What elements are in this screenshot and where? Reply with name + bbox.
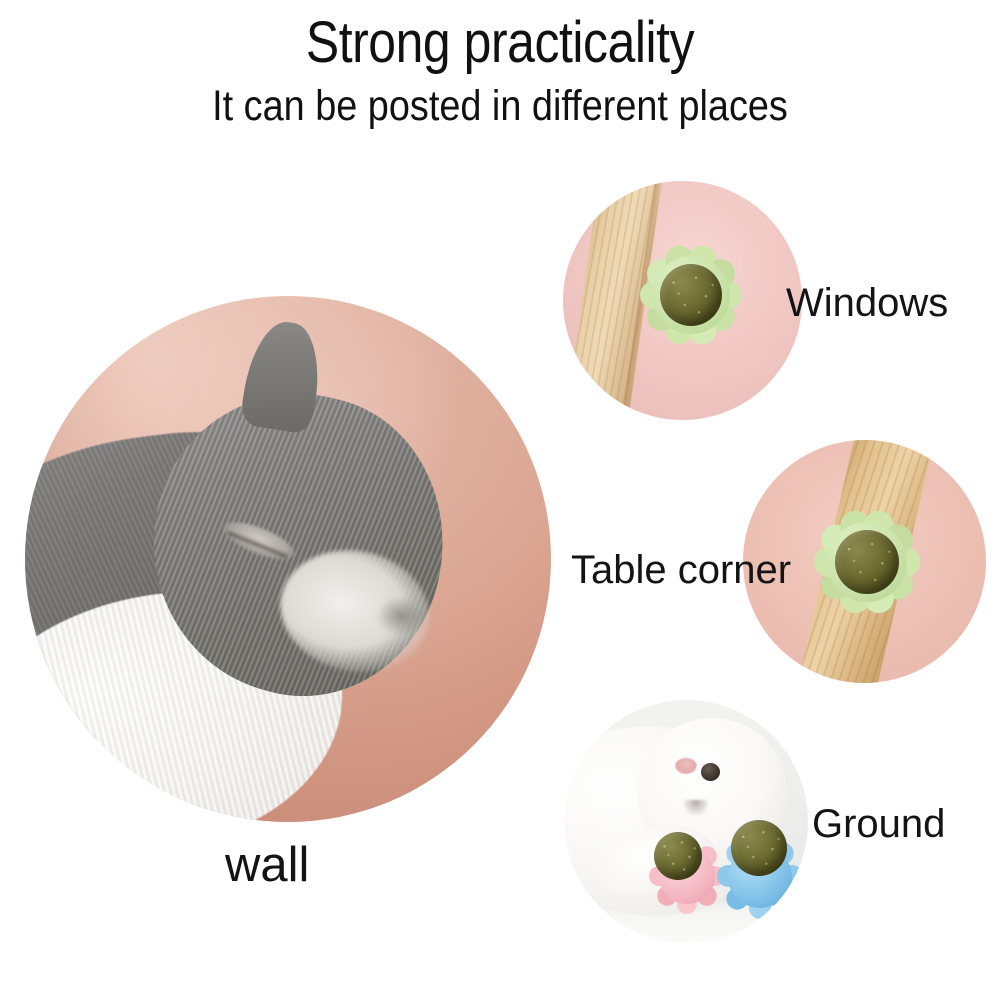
catnip-ball-speckles [731, 820, 787, 876]
catnip-ball-speckles [654, 832, 702, 880]
caption-ground: Ground [812, 802, 945, 846]
catnip-ball [660, 264, 722, 326]
catnip-ball [731, 820, 787, 876]
catnip-ball-toy-windows [641, 247, 741, 343]
caption-windows: Windows [786, 281, 948, 325]
white-cat-eye [701, 763, 720, 781]
catnip-ball-toy-table-corner [815, 512, 919, 612]
catnip-ball-speckles [835, 530, 899, 594]
white-cat-mouth [683, 800, 709, 816]
caption-wall: wall [225, 838, 309, 892]
catnip-ball [835, 530, 899, 594]
page-subtitle: It can be posted in different places [60, 82, 940, 130]
gray-cat-nose [377, 596, 425, 636]
white-cat-nose [675, 758, 697, 774]
catnip-ball-speckles [660, 264, 722, 326]
wall-scene-photo [25, 296, 551, 822]
caption-table-corner: Table corner [571, 548, 791, 592]
ground-scene-photo [565, 700, 808, 943]
catnip-ball-toy-pink [649, 840, 725, 912]
catnip-ball-toy-blue [717, 836, 803, 916]
page-title: Strong practicality [70, 12, 930, 74]
windows-scene-photo [563, 181, 802, 420]
catnip-ball [654, 832, 702, 880]
